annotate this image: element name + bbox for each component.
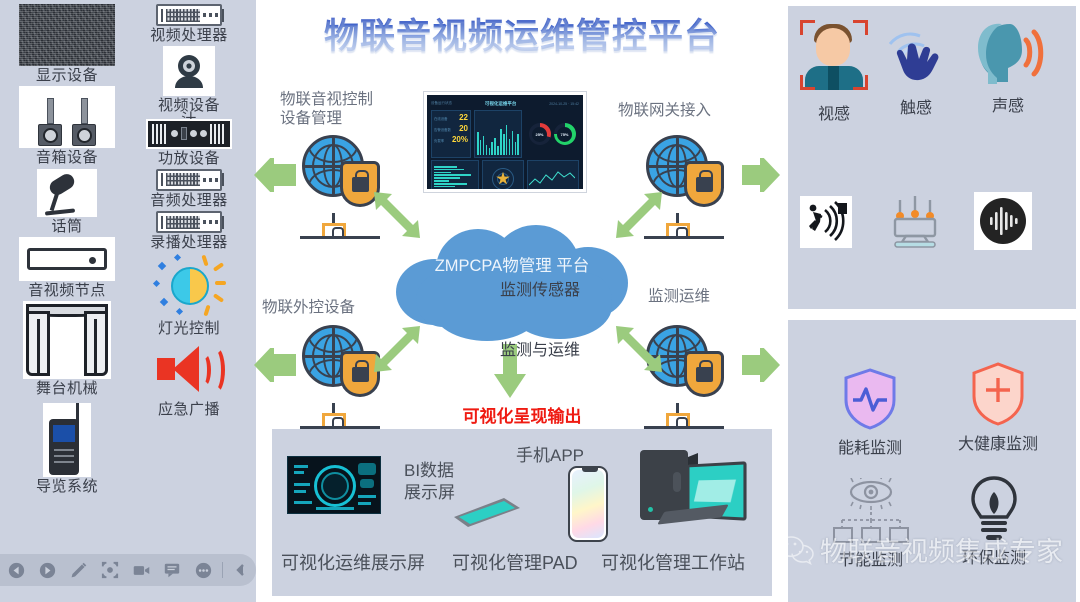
gauge-red: 25%: [529, 123, 551, 145]
monitoring-label: 大健康监测: [958, 430, 1038, 454]
eye-monitor-icon: [828, 478, 914, 544]
dashboard-top-row: 在线设备22 告警设备数20 负载率20% 25% 75%: [431, 110, 579, 158]
sidebar-item-video-processor[interactable]: 视频处理器: [128, 4, 250, 44]
hbar: [434, 177, 460, 179]
cloud-platform-label: ZMPCPA物管理 平台: [396, 255, 628, 277]
monitoring-item-energy[interactable]: 能耗监测: [838, 368, 902, 458]
sidebar-item-video-device[interactable]: 视频设备 汁: [128, 46, 250, 120]
motion-sensor-icon: [800, 196, 852, 248]
sidebar-item-recorder-processor[interactable]: 录播处理器: [128, 211, 250, 251]
bar: [506, 125, 508, 155]
page-title: 物联音视频运维管控平台: [272, 8, 772, 59]
guide-device-icon: [43, 403, 91, 477]
dashboard-header-left: 设备运行状态: [431, 101, 452, 106]
sensing-item-vision[interactable]: 视感: [800, 20, 868, 124]
bar: [489, 148, 491, 155]
energy-shield-icon: [842, 368, 898, 430]
play-icon[interactable]: [33, 555, 62, 585]
audio-processor-icon: [156, 169, 222, 191]
dashboard-radar-chart: [482, 160, 524, 192]
sensor-item-motion[interactable]: [800, 196, 852, 248]
display-noise-icon: [19, 4, 115, 66]
face-recognition-icon: [800, 20, 868, 90]
sensor-item-environment[interactable]: [886, 192, 944, 250]
monitoring-label: 能耗监测: [838, 434, 902, 458]
output-label-display-screen: 可视化运维展示屏: [281, 549, 425, 575]
poster-canvas: 显示设备 音箱设备 话筒 音视频节点: [0, 0, 1080, 602]
toolbar-divider: [222, 562, 223, 578]
arrow-left-top: [252, 158, 296, 192]
sidebar-item-label: 应急广播: [158, 401, 220, 418]
sidebar-item-display-device[interactable]: 显示设备: [6, 4, 128, 84]
label-external-device: 物联外控设备: [262, 298, 355, 317]
output-label-pad: 可视化管理PAD: [452, 549, 578, 575]
camera-glyph: [169, 52, 209, 90]
bar: [483, 136, 485, 155]
video-camera-icon[interactable]: [127, 555, 156, 585]
more-icon[interactable]: [189, 555, 218, 585]
sensor-group-title: 监测传感器: [0, 276, 1080, 300]
bar: [512, 131, 514, 155]
smartphone-icon: [568, 466, 608, 542]
hbar: [434, 186, 455, 188]
sidebar-item-label: 舞台机械: [36, 380, 98, 397]
bar: [486, 145, 488, 155]
sound-wave-icon: [974, 192, 1032, 250]
bar: [477, 132, 479, 155]
sensor-item-sound[interactable]: [974, 192, 1032, 250]
dashboard-bottom-row: [431, 160, 579, 192]
mobile-app-caption: 手机APP: [516, 441, 584, 466]
bar: [497, 146, 499, 155]
voice-head-icon: [968, 18, 1048, 88]
output-label-workstation: 可视化管理工作站: [601, 549, 745, 575]
sidebar-item-label: 话筒: [51, 218, 82, 235]
sidebar-item-microphone[interactable]: 话筒: [6, 169, 128, 235]
sidebar-item-label: 音频处理器: [150, 192, 228, 209]
sidebar-item-amplifier[interactable]: 功放设备: [128, 119, 250, 167]
hbar: [434, 191, 462, 192]
gauge-value: 25%: [532, 127, 547, 142]
kpi-label: 在线设备: [434, 116, 448, 121]
hbar: [434, 183, 467, 185]
sidebar-item-label: 灯光控制: [158, 320, 220, 337]
kpi-label: 负载率: [434, 138, 444, 143]
comment-icon[interactable]: [158, 555, 187, 585]
hand-touch-icon: [882, 26, 950, 88]
video-processor-icon: [156, 4, 222, 26]
monitoring-item-eco[interactable]: 环保监测: [962, 476, 1026, 568]
hbar: [434, 169, 464, 171]
microphone-icon: [37, 169, 97, 217]
monitoring-label: 环保监测: [962, 544, 1026, 568]
dashboard-hbar-chart: [431, 160, 479, 192]
pencil-icon[interactable]: [64, 555, 93, 585]
hbar: [434, 174, 471, 176]
sidebar-item-audio-processor[interactable]: 音频处理器: [128, 169, 250, 209]
sidebar-item-guide-system[interactable]: 导览系统: [6, 403, 128, 495]
kpi-label: 告警设备数: [434, 127, 451, 132]
kpi-value: 20%: [452, 135, 468, 144]
arrow-right-top: [742, 158, 782, 192]
monitoring-item-energy-saving[interactable]: 节能监测: [828, 478, 914, 570]
bi-dashboard-screen: 设备运行状态 可视化运维平台 2024-10-25 · 15:42 在线设备22…: [424, 92, 586, 192]
hbar: [434, 166, 457, 168]
gauge-value: 75%: [557, 127, 572, 142]
sensing-label: 声感: [992, 92, 1024, 116]
sensing-label: 触感: [900, 94, 932, 118]
bar: [509, 139, 511, 155]
dashboard-bar-chart: [474, 110, 522, 158]
sidebar-item-label: 视频处理器: [150, 27, 228, 44]
bottom-toolbar[interactable]: [0, 554, 256, 586]
dashboard-title: 可视化运维平台: [485, 101, 517, 107]
bar: [500, 129, 502, 155]
label-control-device-mgmt: 物联音视控制 设备管理: [280, 90, 373, 129]
bar: [494, 138, 496, 155]
sidebar-column-left: 显示设备 音箱设备 话筒 音视频节点: [6, 4, 128, 498]
kpi-value: 22: [459, 113, 468, 122]
bar: [491, 142, 493, 155]
hbar: [434, 180, 449, 182]
av-node-icon: [19, 237, 115, 281]
eco-bulb-icon: [966, 476, 1022, 542]
bi-screen-caption: BI数据 展示屏: [404, 460, 455, 504]
recorder-processor-icon: [156, 211, 222, 233]
dashboard-header: 设备运行状态 可视化运维平台 2024-10-25 · 15:42: [431, 99, 579, 108]
kpi-value: 20: [459, 124, 468, 133]
sidebar-item-label: 音箱设备: [36, 149, 98, 166]
dashboard-gauges: 25% 75%: [525, 110, 579, 158]
sensing-item-touch[interactable]: 触感: [882, 26, 950, 118]
camera-icon: [163, 46, 215, 96]
bar: [480, 140, 482, 155]
previous-icon[interactable]: [2, 555, 31, 585]
dashboard-header-right: 2024-10-25 · 15:42: [549, 102, 579, 106]
dashboard-kpi-card: 在线设备22 告警设备数20 负载率20%: [431, 110, 471, 158]
sidebar-item-label: 录播处理器: [150, 234, 228, 251]
sidebar-item-speaker-device[interactable]: 音箱设备: [6, 86, 128, 166]
sensing-item-voice[interactable]: 声感: [968, 18, 1048, 116]
dashboard-line-chart: [527, 160, 579, 192]
health-shield-icon: [970, 362, 1026, 426]
sensing-label: 视感: [818, 100, 850, 124]
bar: [515, 142, 517, 155]
bi-screen-icon: [287, 456, 381, 514]
tablet-icon: [452, 495, 522, 531]
environment-sensor-icon: [886, 192, 944, 250]
sidebar-item-label: 功放设备: [158, 150, 220, 167]
collapse-chevron-icon[interactable]: [227, 555, 256, 585]
bar: [517, 134, 519, 155]
monitoring-panel-title: 监测与运维: [0, 336, 1080, 360]
speakers-icon: [19, 86, 115, 148]
sidebar-item-label: 导览系统: [36, 478, 98, 495]
label-gateway-access: 物联网关接入: [618, 101, 711, 120]
amplifier-icon: [146, 119, 232, 149]
hbar: [434, 172, 451, 174]
monitoring-item-health[interactable]: 大健康监测: [958, 362, 1038, 454]
visualization-output-banner: 可视化呈现输出: [272, 402, 772, 427]
sidebar-item-label: 显示设备: [36, 67, 98, 84]
monitoring-label: 节能监测: [839, 546, 903, 570]
hbar: [434, 189, 447, 191]
gauge-green: 75%: [554, 123, 576, 145]
focus-scan-icon[interactable]: [95, 555, 124, 585]
bar: [503, 134, 505, 155]
